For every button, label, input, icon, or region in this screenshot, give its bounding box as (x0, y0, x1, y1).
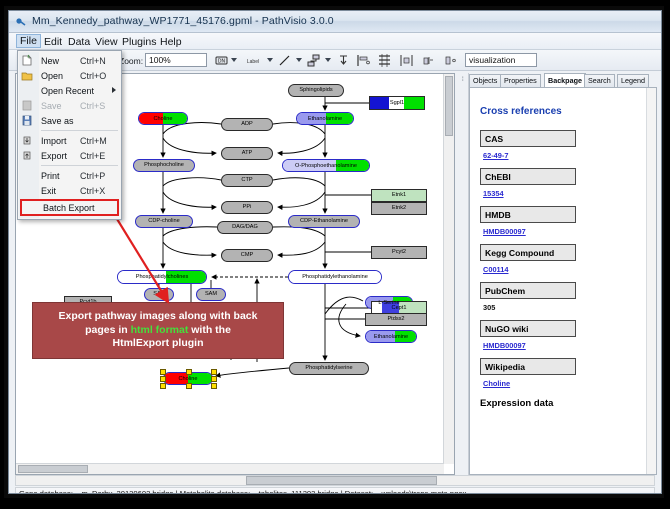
menu-item-label: Print (41, 171, 60, 181)
menu-item-label: Open (41, 71, 63, 81)
menu-item-accel: Ctrl+O (80, 71, 106, 81)
menu-item-label: Save (41, 101, 62, 111)
menu-separator (41, 165, 118, 166)
xref-source-kegg: Kegg Compound (480, 244, 576, 261)
menu-data[interactable]: Data (64, 35, 94, 49)
tab-backpage[interactable]: Backpage (544, 73, 586, 87)
scrollbar-thumb[interactable] (246, 476, 437, 485)
align-top-tool[interactable] (336, 53, 351, 68)
file-menu-dropdown: New Ctrl+N Open Ctrl+O Open Recent Save … (17, 50, 122, 220)
menu-item-accel: Ctrl+N (80, 56, 106, 66)
svg-text:Label: Label (247, 59, 259, 65)
menu-item-label: Export (41, 151, 67, 161)
shape-dropdown-icon[interactable] (325, 58, 331, 62)
menu-item-save: Save Ctrl+S (18, 98, 121, 113)
xref-source-pubchem: PubChem (480, 282, 576, 299)
menu-item-exit[interactable]: Exit Ctrl+X (18, 183, 121, 198)
pathvisio-icon (15, 16, 27, 28)
tab-search[interactable]: Search (584, 74, 615, 87)
datanode-dropdown-icon[interactable] (231, 58, 237, 62)
menu-item-accel: Ctrl+P (80, 171, 105, 181)
line-dropdown-icon[interactable] (296, 58, 302, 62)
menu-item-accel: Ctrl+M (80, 136, 107, 146)
menu-item-label: Import (41, 136, 67, 146)
cross-references-heading: Cross references (480, 106, 562, 117)
menu-item-label: Open Recent (41, 86, 94, 96)
xref-source-hmdb: HMDB (480, 206, 576, 223)
title-bar: Mm_Kennedy_pathway_WP1771_45176.gpml - P… (9, 11, 661, 33)
menu-item-batch-export[interactable]: Batch Export (20, 199, 119, 216)
svg-text:DN: DN (218, 59, 226, 65)
xref-value-chebi[interactable]: 15354 (483, 189, 504, 198)
distribute-tool[interactable] (399, 53, 414, 68)
align-center-tool[interactable] (377, 53, 392, 68)
menu-item-print[interactable]: Print Ctrl+P (18, 168, 121, 183)
panel-collapse-rail[interactable]: ⁞ (461, 73, 469, 475)
outer-frame: Mm_Kennedy_pathway_WP1771_45176.gpml - P… (0, 0, 670, 509)
tab-objects[interactable]: Objects (469, 74, 501, 87)
save-as-icon (21, 115, 33, 126)
xref-value-nugo[interactable]: HMDB00097 (483, 341, 526, 350)
xref-value-pubchem: 305 (483, 303, 495, 312)
zoom-select[interactable]: 100% (145, 53, 207, 67)
horizontal-scrollbar[interactable] (15, 475, 655, 486)
new-file-icon (21, 55, 33, 66)
shape-tool[interactable] (306, 53, 321, 68)
expression-data-heading: Expression data (480, 398, 553, 409)
xref-source-cas: CAS (480, 130, 576, 147)
line-tool[interactable] (277, 53, 292, 68)
menu-edit[interactable]: Edit (40, 35, 66, 49)
menu-item-save-as[interactable]: Save as (18, 113, 121, 128)
xref-source-nugo: NuGO wiki (480, 320, 576, 337)
menu-bar: File Edit Data View Plugins Help (9, 33, 661, 50)
menu-item-label: Save as (41, 116, 74, 126)
menu-item-accel: Ctrl+X (80, 186, 105, 196)
menu-item-export[interactable]: Export Ctrl+E (18, 148, 121, 163)
import-icon (21, 135, 33, 146)
status-bar: Gene database: ...m_Derby_20120602.bridg… (15, 487, 655, 494)
panel-tabs: Objects Properties Backpage Search Legen… (469, 73, 657, 87)
menu-plugins[interactable]: Plugins (118, 35, 160, 49)
xref-value-kegg[interactable]: C00114 (483, 265, 508, 274)
menu-item-label: Exit (41, 186, 56, 196)
side-panel: ⁞ Objects Properties Backpage Search Leg… (461, 73, 657, 475)
export-icon (21, 150, 33, 161)
xref-source-chebi: ChEBI (480, 168, 576, 185)
menu-file[interactable]: File (16, 34, 41, 48)
label-dropdown-icon[interactable] (267, 58, 273, 62)
stack-tool[interactable] (443, 53, 458, 68)
menu-item-label: Batch Export (43, 203, 95, 213)
align-left-tool[interactable] (355, 53, 370, 68)
menu-item-open-recent[interactable]: Open Recent (18, 83, 121, 98)
xref-value-hmdb[interactable]: HMDB00097 (483, 227, 526, 236)
menu-item-import[interactable]: Import Ctrl+M (18, 133, 121, 148)
tab-legend[interactable]: Legend (617, 74, 649, 87)
zoom-label: Zoom: (119, 56, 143, 66)
open-folder-icon (21, 70, 33, 81)
menu-item-accel: Ctrl+S (80, 101, 105, 111)
xref-value-wikipedia[interactable]: Choline (483, 379, 510, 388)
xref-value-cas[interactable]: 62-49-7 (483, 151, 508, 160)
group-tool[interactable] (421, 53, 436, 68)
status-area: Gene database: ...m_Derby_20120602.bridg… (15, 475, 657, 494)
backpage-panel: Cross references CAS 62-49-7 ChEBI 15354… (469, 87, 657, 475)
menu-item-open[interactable]: Open Ctrl+O (18, 68, 121, 83)
save-icon (21, 100, 33, 111)
panel-scrollbar[interactable] (646, 88, 656, 474)
window-title: Mm_Kennedy_pathway_WP1771_45176.gpml - P… (32, 15, 334, 27)
panel-grip-icon: ⁞ (462, 77, 464, 83)
datanode-tool[interactable]: DN (214, 53, 229, 68)
menu-item-label: New (41, 56, 59, 66)
menu-help[interactable]: Help (156, 35, 186, 49)
label-tool[interactable]: Label (241, 53, 265, 68)
tab-properties[interactable]: Properties (500, 74, 541, 87)
menu-separator (41, 130, 118, 131)
xref-source-wikipedia: Wikipedia (480, 358, 576, 375)
menu-view[interactable]: View (91, 35, 122, 49)
visualization-select[interactable]: visualization (465, 53, 537, 67)
submenu-arrow-icon (112, 87, 116, 93)
menu-item-accel: Ctrl+E (80, 151, 105, 161)
menu-item-new[interactable]: New Ctrl+N (18, 53, 121, 68)
application-window: Mm_Kennedy_pathway_WP1771_45176.gpml - P… (8, 10, 662, 494)
